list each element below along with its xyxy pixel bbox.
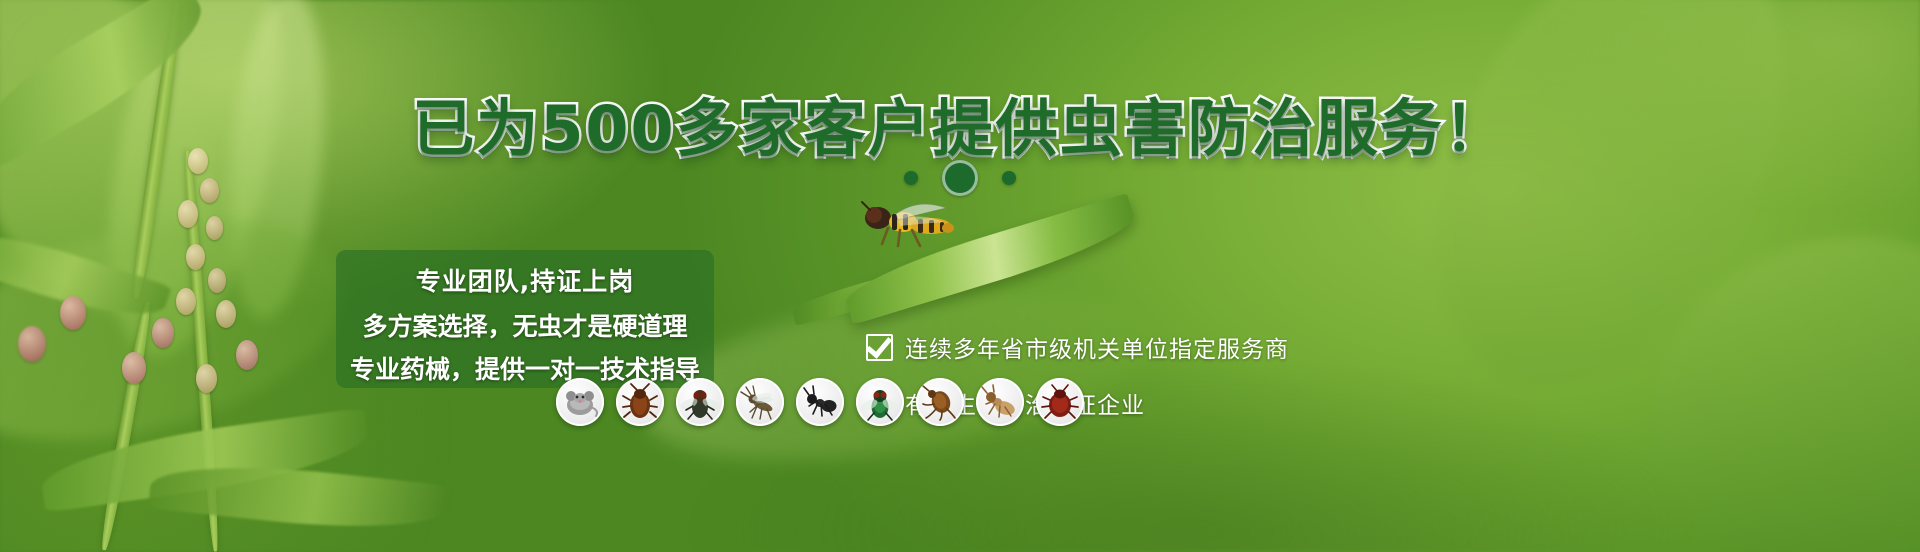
mouse-icon[interactable]	[556, 378, 604, 426]
banner-headline-text: 已为500多家客户提供虫害防治服务！	[412, 92, 1507, 165]
checklist-item-label: 连续多年省市级机关单位指定服务商	[905, 330, 1289, 364]
ant-icon[interactable]	[796, 378, 844, 426]
pest-control-banner: 已为500多家客户提供虫害防治服务！ 专业团队,持证上岗 多方案选择，无虫才是硬…	[0, 0, 1920, 552]
decorative-dots	[0, 160, 1920, 196]
bedbug-icon[interactable]	[1036, 378, 1084, 426]
dot-small-right	[1002, 171, 1016, 185]
fly-icon[interactable]	[676, 378, 724, 426]
feature-box: 专业团队,持证上岗 多方案选择，无虫才是硬道理 专业药械，提供一对一技术指导	[336, 250, 714, 388]
feature-line-2: 多方案选择，无虫才是硬道理	[336, 307, 714, 343]
checkbox-checked-icon	[866, 334, 893, 361]
feature-line-1: 专业团队,持证上岗	[336, 262, 714, 298]
cockroach-icon[interactable]	[616, 378, 664, 426]
mosquito-icon[interactable]	[736, 378, 784, 426]
pest-icon-row	[556, 378, 1084, 426]
flea-icon[interactable]	[916, 378, 964, 426]
termite-icon[interactable]	[976, 378, 1024, 426]
checklist-item: 连续多年省市级机关单位指定服务商	[866, 330, 1289, 364]
dot-small-left	[904, 171, 918, 185]
blowfly-icon[interactable]	[856, 378, 904, 426]
hoverfly-icon	[848, 196, 958, 256]
dot-large-center	[942, 160, 978, 196]
banner-headline: 已为500多家客户提供虫害防治服务！	[0, 78, 1920, 168]
